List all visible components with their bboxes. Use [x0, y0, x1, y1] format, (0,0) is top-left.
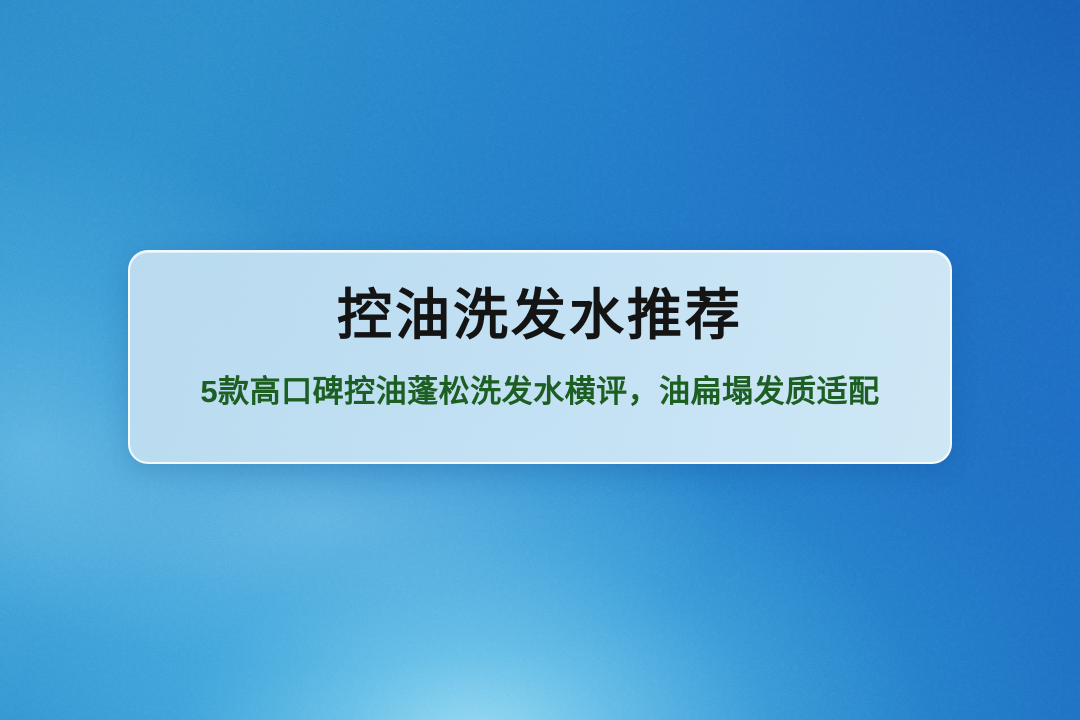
page-subtitle: 5款高口碑控油蓬松洗发水横评，油扁塌发质适配 [128, 372, 952, 412]
poster-canvas: 控油洗发水推荐 5款高口碑控油蓬松洗发水横评，油扁塌发质适配 [0, 0, 1080, 720]
headline-card: 控油洗发水推荐 5款高口碑控油蓬松洗发水横评，油扁塌发质适配 [128, 250, 952, 464]
card-grain-texture [130, 252, 952, 464]
page-title: 控油洗发水推荐 [130, 285, 950, 347]
